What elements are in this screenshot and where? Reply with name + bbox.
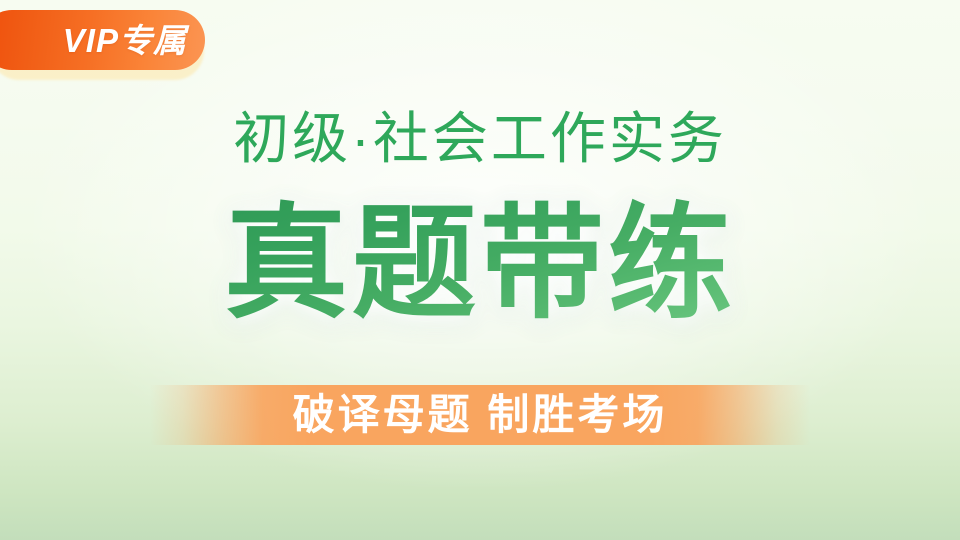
course-subtitle: 初级·社会工作实务 (0, 104, 960, 174)
vip-badge-pill: VIP专属 (0, 10, 205, 70)
slogan-text: 破译母题 制胜考场 (293, 394, 668, 436)
course-promo-banner: VIP专属 初级·社会工作实务 真题带练 破译母题 制胜考场 (0, 0, 960, 540)
vip-badge: VIP专属 (0, 10, 208, 70)
page-title: 真题带练 (224, 196, 736, 332)
slogan-ribbon: 破译母题 制胜考场 (150, 385, 810, 445)
headline-container: 真题带练 (0, 196, 960, 346)
vip-badge-label: VIP专属 (63, 24, 187, 57)
